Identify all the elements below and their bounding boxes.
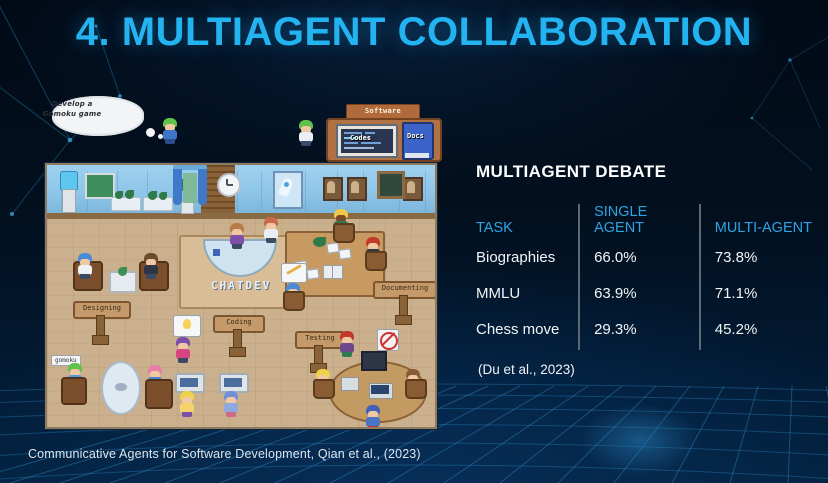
character-meeting-front [365,405,381,429]
sign-coding-text: Coding [215,317,263,328]
character-coder-yellow [179,391,195,417]
slide-footer-citation: Communicative Agents for Software Develo… [28,447,421,461]
design-round-table [101,361,141,415]
wall-chalkboard [377,171,405,199]
no-smoking-sign [377,329,399,351]
wall-whiteboard [85,173,115,199]
cell-single: 66.0% [579,240,700,276]
column-header-single-line2: AGENT [594,220,644,236]
cell-task: Chess move [476,312,579,350]
cell-task: Biographies [476,240,579,276]
character-lounge-blue [77,253,93,279]
character-writer-curly [263,217,279,243]
debate-citation: (Du et al., 2023) [476,362,814,377]
codes-label: Codes [350,134,371,142]
sign-documenting-text: Documenting [375,283,435,294]
design-bench-left [61,377,87,405]
document-paper-3 [326,242,339,254]
document-paper-2 [306,268,319,280]
thought-bubble-text: Develop aGomoku game [26,99,118,119]
column-header-multi-agent: MULTI-AGENT [700,204,814,240]
wall-clock [217,173,241,197]
multiagent-debate-panel: MULTIAGENT DEBATE TASK SINGLE AGENT MULT… [476,162,814,377]
thought-bubble-dot-large [146,128,155,137]
pen-bubble [281,263,307,283]
cell-multi: 73.8% [700,240,814,276]
table-row: MMLU 63.9% 71.1% [476,276,814,312]
wall-portrait-2 [347,177,367,201]
column-header-single-agent: SINGLE AGENT [579,204,700,240]
meeting-chair-right [405,379,427,399]
design-bench-right [145,379,173,409]
chatdev-office-image: CHATDEV Designing gomoku [45,163,437,429]
slide-title: 4. MULTIAGENT COLLABORATION [0,10,828,55]
window-planter-2 [143,197,173,211]
table-plant [313,237,327,251]
meeting-tv [361,351,387,371]
character-designer-purple [175,337,191,363]
character-lounge-brown [143,253,159,279]
wall-portrait-1 [323,177,343,201]
writer-chair-top [333,223,355,243]
window-planter-1 [111,197,141,211]
software-label-text: Software [347,105,419,117]
water-cooler [59,171,77,211]
presentation-slide: 4. MULTIAGENT COLLABORATION Develop aGom… [0,0,828,483]
debate-heading: MULTIAGENT DEBATE [476,162,814,182]
wall-portrait-3 [403,177,423,201]
character-coder-blue [223,391,239,417]
character-receptionist [229,223,245,249]
cell-multi: 71.1% [700,276,814,312]
reception-logo: CHATDEV [211,279,271,292]
software-shelf: Software Codes Docs [326,104,438,162]
table-row: Chess move 29.3% 45.2% [476,312,814,350]
character-walking [298,120,314,146]
chatdev-scene: Develop aGomoku game Software Codes [26,92,438,428]
table-header-row: TASK SINGLE AGENT MULTI-AGENT [476,204,814,240]
column-header-single-line1: SINGLE [594,204,647,220]
sign-testing-text: Testing [297,333,343,344]
coding-desk-2 [219,373,249,393]
meeting-chair-left [313,379,335,399]
rocket-poster [273,171,303,209]
column-header-task: TASK [476,204,579,240]
coffee-table [109,271,137,293]
writer-chair-left [283,291,305,311]
idea-bubble [173,315,201,337]
meeting-laptop-1 [341,377,359,391]
meeting-laptop-2 [369,383,393,399]
table-row: Biographies 66.0% 73.8% [476,240,814,276]
cell-multi: 45.2% [700,312,814,350]
writer-chair-right [365,251,387,271]
character-tester-red [339,331,355,357]
cell-single: 29.3% [579,312,700,350]
docs-book [402,122,434,160]
document-open-book [323,265,343,279]
sign-designing-text: Designing [75,303,129,314]
cell-task: MMLU [476,276,579,312]
cell-single: 63.9% [579,276,700,312]
docs-label: Docs [407,132,424,140]
character-requester [162,118,178,144]
coding-desk-1 [175,373,205,393]
window-curtain [173,165,207,209]
debate-results-table: TASK SINGLE AGENT MULTI-AGENT Biographie… [476,204,814,350]
document-paper-4 [338,248,351,260]
